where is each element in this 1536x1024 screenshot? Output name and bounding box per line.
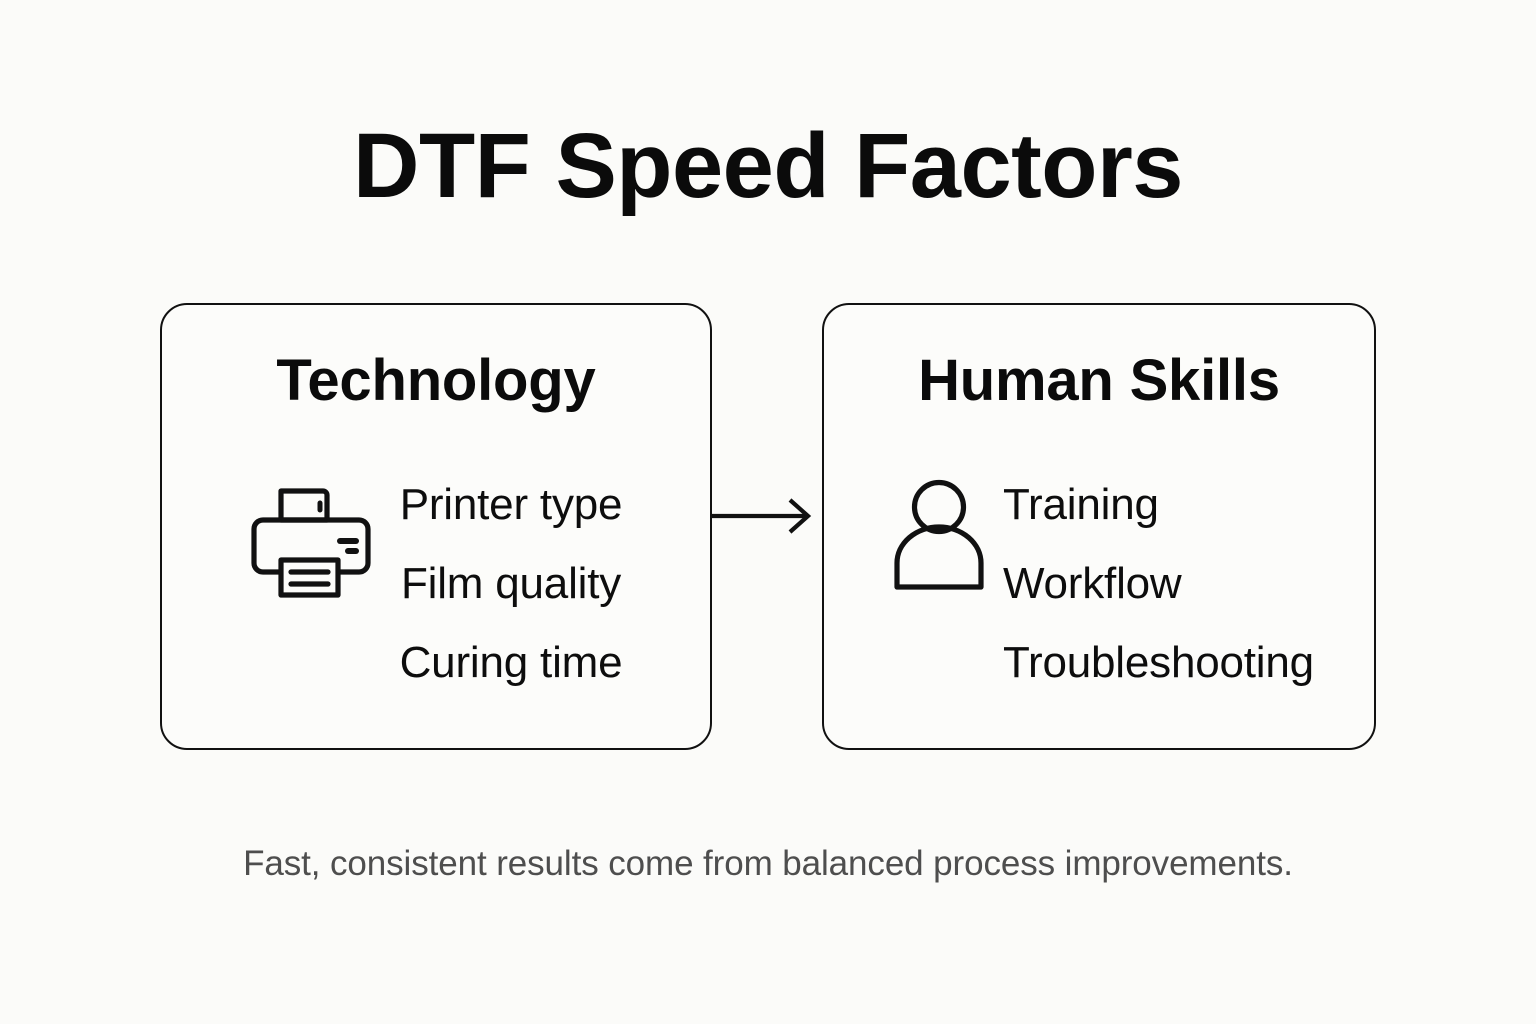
card-human-skills: Human Skills Training Workflow Troublesh… — [822, 303, 1376, 750]
list-item: Workflow — [1003, 544, 1182, 623]
page-title: DTF Speed Factors — [0, 118, 1536, 215]
technology-factor-list: Printer type Film quality Curing time — [386, 465, 636, 702]
printer-icon — [236, 465, 386, 599]
diagram-canvas: DTF Speed Factors Technology — [0, 0, 1536, 1024]
arrow-right-icon — [706, 493, 816, 539]
card-technology: Technology — [160, 303, 712, 750]
list-item: Curing time — [400, 623, 623, 702]
card-technology-title: Technology — [162, 349, 710, 413]
list-item: Printer type — [400, 465, 623, 544]
human-skills-factor-list: Training Workflow Troubleshooting — [1003, 465, 1323, 702]
list-item: Training — [1003, 465, 1159, 544]
list-item: Troubleshooting — [1003, 623, 1314, 702]
person-icon — [875, 465, 1003, 591]
card-human-skills-body: Training Workflow Troubleshooting — [824, 465, 1374, 702]
list-item: Film quality — [401, 544, 621, 623]
card-human-skills-title: Human Skills — [824, 349, 1374, 413]
caption-text: Fast, consistent results come from balan… — [0, 841, 1536, 887]
card-technology-body: Printer type Film quality Curing time — [162, 465, 710, 702]
